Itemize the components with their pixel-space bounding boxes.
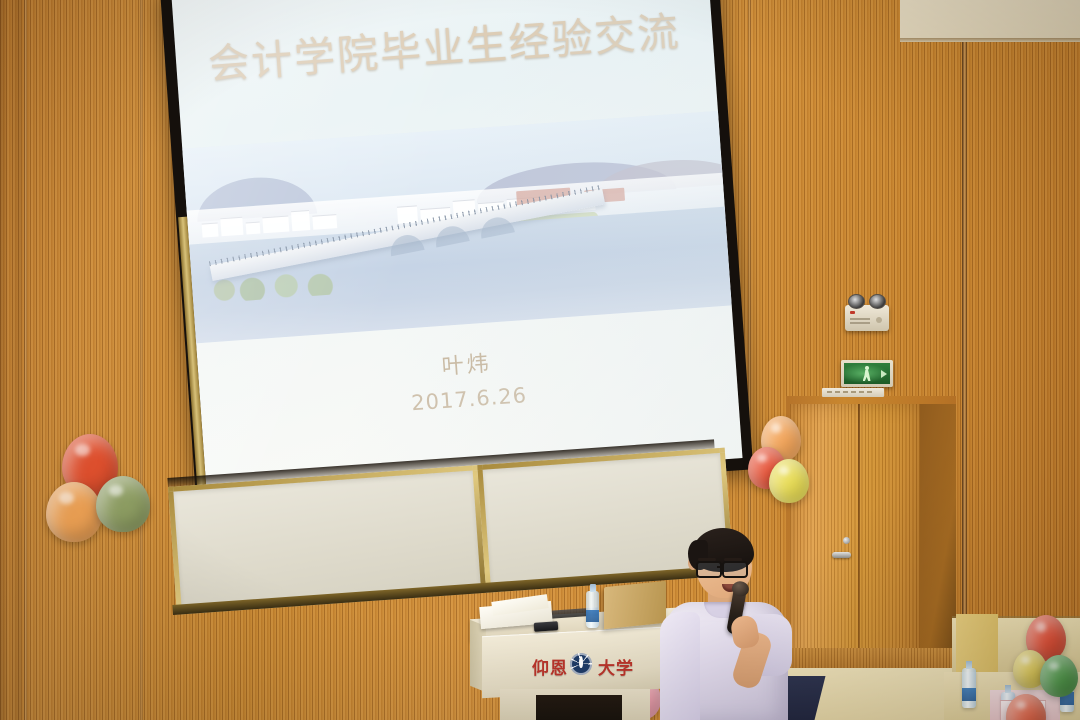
balloon-green [96,476,150,532]
water-bottle[interactable] [586,591,599,628]
emergency-test-button[interactable] [876,317,882,323]
slide-title: 会计学院毕业生经验交流 [174,0,714,93]
ceiling-edge [900,38,1080,43]
screen-frame: 会计学院毕业生经验交流 [160,0,753,509]
balloon-green [1040,655,1078,697]
glasses-icon [696,561,754,575]
lectern-brand-right: 大学 [598,654,634,679]
bottle-label [586,610,599,622]
slide-photo [182,111,731,343]
balloon-orange [46,482,102,542]
ceiling [900,0,1080,42]
slide-surface: 会计学院毕业生经验交流 [172,0,743,496]
emergency-lamp-right [869,294,886,309]
emergency-led [850,311,855,314]
exit-sign-face [844,363,890,384]
wall-seam [140,0,143,720]
emergency-label [850,318,870,320]
exit-arrow-icon [881,370,887,378]
wall-seam [24,0,27,720]
wall-gap [962,0,967,720]
lectern-brand-left: 仰恩 [532,654,568,679]
emergency-lamp-left [848,294,865,309]
university-emblem-icon [570,653,592,675]
door-lock-icon[interactable] [843,537,850,544]
door-sign-plate [822,388,884,397]
presenter [660,528,810,720]
laptop[interactable] [604,581,666,630]
water-bottle[interactable] [962,668,976,708]
exit-sign [841,360,893,387]
projection-screen: 会计学院毕业生经验交流 [160,0,753,509]
lectern-dark-panel [536,695,622,720]
mobile-phone[interactable] [534,621,559,632]
balloon-yellow [769,459,809,503]
presenter-left-arm [660,612,700,720]
lectern: 仰恩 大学 [470,613,692,720]
photo-scene: 会计学院毕业生经验交流 [0,0,1080,720]
wall-shade-left [0,0,22,720]
door-handle[interactable] [832,552,851,558]
running-man-icon [862,366,873,381]
emergency-light-icon [845,305,889,331]
